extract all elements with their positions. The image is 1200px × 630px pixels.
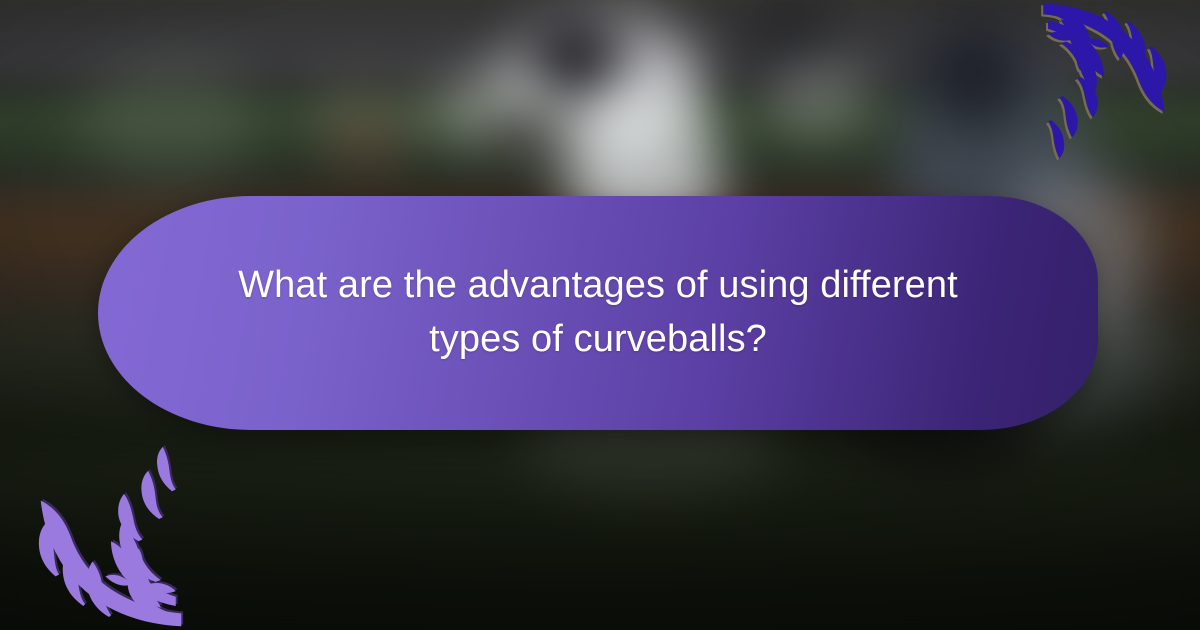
question-banner: What are the advantages of using differe… xyxy=(98,196,1098,430)
question-card: What are the advantages of using differe… xyxy=(0,0,1200,630)
question-text: What are the advantages of using differe… xyxy=(178,259,1018,367)
